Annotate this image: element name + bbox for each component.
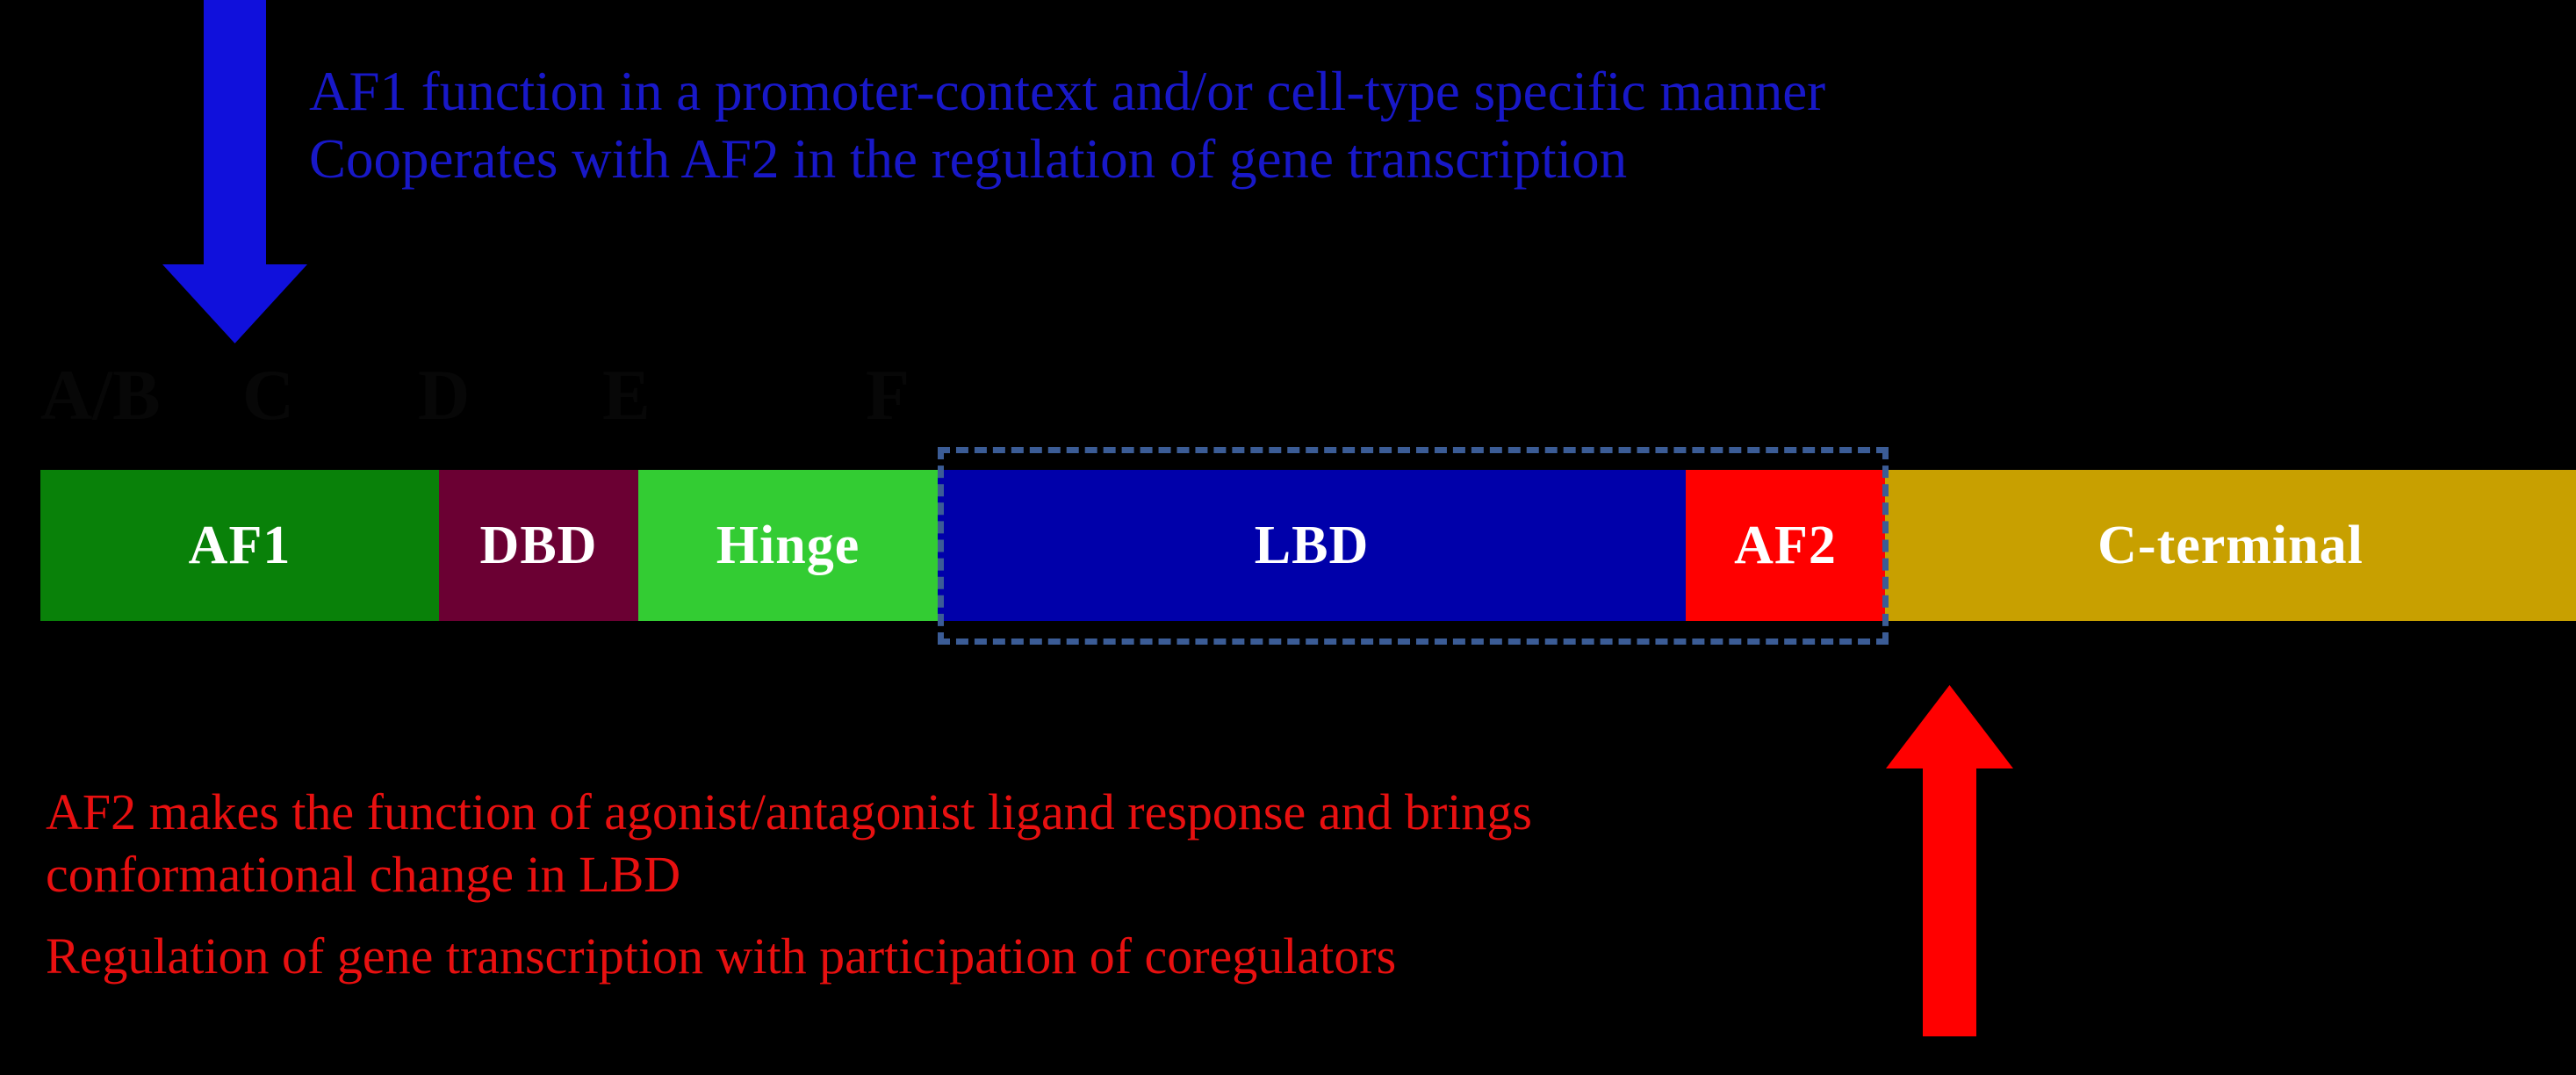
top-annotation-text: AF1 function in a promoter-context and/o… <box>309 58 2328 193</box>
receptor-domain-bar: AF1 DBD Hinge LBD AF2 C-terminal <box>40 470 2576 621</box>
top-annotation-line-2: Cooperates with AF2 in the regulation of… <box>309 126 2328 193</box>
down-arrow-icon <box>162 0 307 343</box>
domain-segment-dbd[interactable]: DBD <box>439 470 638 621</box>
faint-label-ab: A/B <box>40 351 161 439</box>
domain-segment-lbd[interactable]: LBD <box>938 470 1686 621</box>
faint-label-e: E <box>602 351 651 439</box>
bottom-annotation-text: AF2 makes the function of agonist/antago… <box>46 782 1854 987</box>
top-annotation-line-1: AF1 function in a promoter-context and/o… <box>309 58 2328 126</box>
domain-segment-label: DBD <box>480 515 598 577</box>
domain-segment-c-terminal[interactable]: C-terminal <box>1885 470 2576 621</box>
up-arrow-icon <box>1886 685 2013 1036</box>
faint-domain-letter-labels: A/B C D E F <box>40 351 2569 439</box>
domain-segment-af1[interactable]: AF1 <box>40 470 439 621</box>
domain-segment-label: Hinge <box>716 515 860 577</box>
bottom-annotation-paragraph-2: Regulation of gene transcription with pa… <box>46 926 1854 988</box>
faint-label-d: D <box>418 351 470 439</box>
faint-label-f: F <box>866 351 910 439</box>
bottom-annotation-paragraph-1: AF2 makes the function of agonist/antago… <box>46 782 1854 906</box>
domain-segment-hinge[interactable]: Hinge <box>638 470 938 621</box>
domain-segment-label: AF2 <box>1734 515 1837 577</box>
domain-segment-af2[interactable]: AF2 <box>1686 470 1885 621</box>
domain-segment-label: C-terminal <box>2097 515 2364 577</box>
down-arrow-shape <box>162 0 307 343</box>
domain-segment-label: AF1 <box>189 515 291 577</box>
up-arrow-shape <box>1886 685 2013 1036</box>
faint-label-c: C <box>242 351 294 439</box>
domain-segment-label: LBD <box>1255 515 1369 577</box>
